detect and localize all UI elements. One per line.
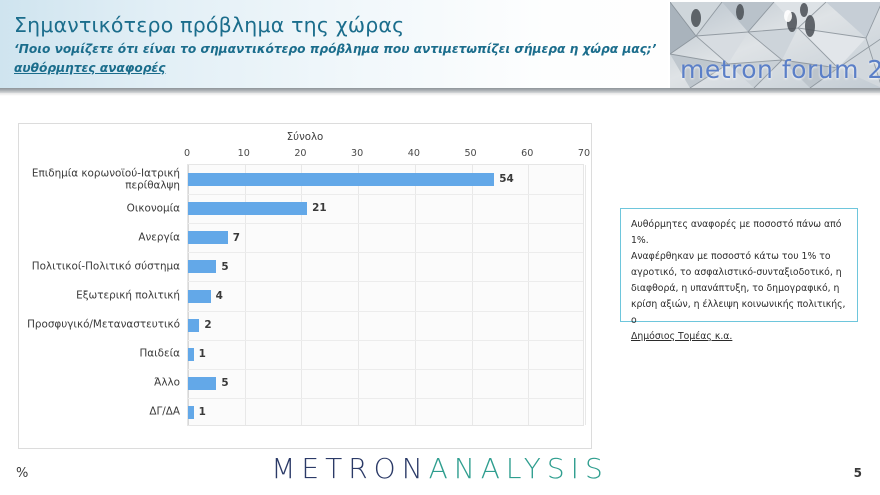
x-tick-40: 40 [408, 148, 420, 159]
band-separator [188, 223, 583, 224]
bar[interactable] [188, 290, 211, 303]
category-label: Οικονομία [20, 202, 180, 215]
footnote-box: Αυθόρμητες αναφορές με ποσοστό πάνω από … [620, 208, 858, 322]
bar-value-label: 5 [221, 262, 228, 272]
bar[interactable] [188, 406, 194, 419]
bar-row: Εξωτερική πολιτική4 [188, 290, 585, 303]
category-label: Επιδημία κορωνοϊού-Ιατρική περίθαλψη [20, 167, 180, 192]
gridline-vertical [585, 165, 586, 425]
band-separator [188, 340, 583, 341]
bar-value-label: 7 [233, 233, 240, 243]
chart-title: Σύνολο [19, 132, 591, 143]
footnote-line: κρίση αξιών, η έλλειψη κοινωνικής πολιτι… [631, 297, 847, 329]
x-tick-50: 50 [464, 148, 476, 159]
header-divider-shadow [0, 93, 880, 96]
logo-wordmark: metron forum 2.0 [680, 55, 880, 84]
band-separator [188, 398, 583, 399]
bar-row: Προσφυγικό/Μεταναστευτικό2 [188, 319, 585, 332]
bar-row: Οικονομία21 [188, 202, 585, 215]
bar-row: Άλλο5 [188, 377, 585, 390]
band-separator [188, 369, 583, 370]
bar-value-label: 2 [204, 320, 211, 330]
band-separator [188, 194, 583, 195]
x-axis-tick-labels: 010203040506070 [187, 148, 584, 162]
category-label: Προσφυγικό/Μεταναστευτικό [20, 319, 180, 332]
bar[interactable] [188, 202, 307, 215]
plot-wrap: 010203040506070 Επιδημία κορωνοϊού-Ιατρι… [187, 164, 584, 426]
footnote-line: Αναφέρθηκαν με ποσοστό κάτω του 1% το [631, 249, 847, 265]
category-label: Ανεργία [20, 231, 180, 244]
plot-area: Επιδημία κορωνοϊού-Ιατρική περίθαλψη54Οι… [187, 164, 584, 426]
page-number: 5 [854, 466, 862, 480]
footnote-line: αγροτικό, το ασφαλιστικό-συνταξιοδοτικό,… [631, 265, 847, 281]
bar[interactable] [188, 173, 494, 186]
bar[interactable] [188, 348, 194, 361]
x-tick-70: 70 [578, 148, 590, 159]
footnote-line: διαφθορά, η υπανάπτυξη, το δημογραφικό, … [631, 281, 847, 297]
bar-value-label: 54 [499, 174, 513, 184]
footnote-line: Αυθόρμητες αναφορές με ποσοστό πάνω από … [631, 217, 847, 249]
bar[interactable] [188, 260, 216, 273]
bar[interactable] [188, 377, 216, 390]
bar-value-label: 1 [199, 349, 206, 359]
subtitle-link[interactable]: αυθόρμητες αναφορές [14, 61, 165, 75]
bar-row: Επιδημία κορωνοϊού-Ιατρική περίθαλψη54 [188, 173, 585, 186]
bar-value-label: 21 [312, 203, 326, 213]
header-text-block: Σημαντικότερο πρόβλημα της χώρας ‘Ποιο ν… [14, 14, 654, 76]
band-separator [188, 311, 583, 312]
category-label: ΔΓ/ΔΑ [20, 406, 180, 419]
category-label: Εξωτερική πολιτική [20, 290, 180, 303]
bar-value-label: 5 [221, 378, 228, 388]
metron-forum-logo: metron forum 2.0 [668, 2, 880, 88]
x-tick-10: 10 [238, 148, 250, 159]
x-tick-20: 20 [294, 148, 306, 159]
bar-value-label: 1 [199, 407, 206, 417]
page-subtitle: ‘Ποιο νομίζετε ότι είναι το σημαντικότερ… [14, 42, 654, 57]
footnote-line: Δημόσιος Τομέας κ.α. [631, 329, 847, 345]
brand-metron: METRON [271, 452, 428, 485]
category-label: Άλλο [20, 377, 180, 390]
chart-container: Σύνολο 010203040506070 Επιδημία κορωνοϊο… [18, 123, 592, 449]
band-separator [188, 252, 583, 253]
page-title: Σημαντικότερο πρόβλημα της χώρας [14, 14, 654, 38]
x-tick-0: 0 [184, 148, 190, 159]
bar-row: Πολιτικοί-Πολιτικό σύστημα5 [188, 260, 585, 273]
bar-row: Ανεργία7 [188, 231, 585, 244]
x-tick-30: 30 [351, 148, 363, 159]
x-tick-60: 60 [521, 148, 533, 159]
category-label: Παιδεία [20, 348, 180, 361]
category-label: Πολιτικοί-Πολιτικό σύστημα [20, 261, 180, 274]
bar-value-label: 4 [216, 291, 223, 301]
bar-row: ΔΓ/ΔΑ1 [188, 406, 585, 419]
bar-row: Παιδεία1 [188, 348, 585, 361]
brand-analysis: ANALYSIS [429, 452, 609, 485]
metron-analysis-brand: METRONANALYSIS [0, 452, 880, 485]
bar[interactable] [188, 231, 228, 244]
bar[interactable] [188, 319, 199, 332]
band-separator [188, 281, 583, 282]
